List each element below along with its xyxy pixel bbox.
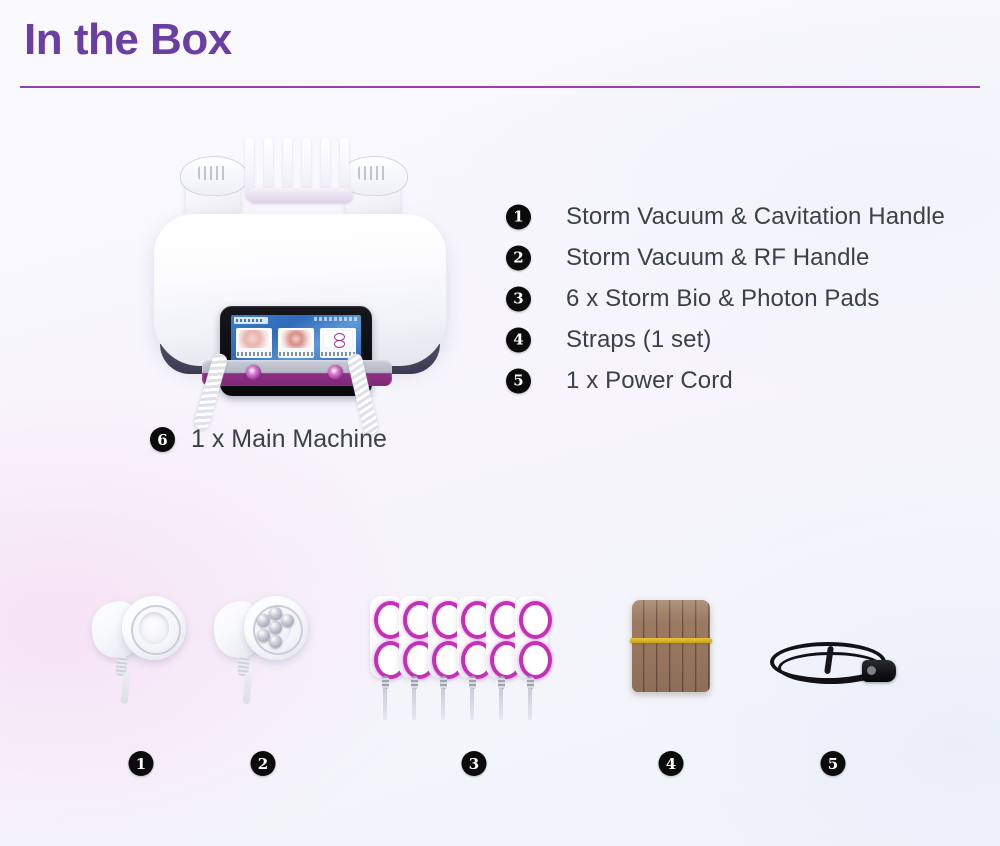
rf-electrode <box>281 614 294 627</box>
port-icon-right <box>328 365 343 380</box>
rf-electrode <box>269 635 282 648</box>
gallery-item-power-cord: 5 <box>768 0 898 846</box>
gallery-number-badge-4: 4 <box>659 751 684 776</box>
gallery-number-badge-2: 2 <box>251 751 276 776</box>
rf-electrode <box>269 621 282 634</box>
screen-title-text <box>314 317 358 321</box>
handle-bore <box>139 612 169 644</box>
pad-wire <box>383 688 387 720</box>
pad-connector <box>411 676 418 689</box>
gallery-number-badge-1: 1 <box>129 751 154 776</box>
pad-wire <box>528 688 532 720</box>
gallery-item-bio-photon-pads: 3 <box>370 0 578 846</box>
handle-wire <box>243 672 253 704</box>
pad-led-ring <box>519 601 552 639</box>
pad-connector <box>469 676 476 689</box>
rf-electrode <box>257 614 270 627</box>
pad-connector <box>382 676 389 689</box>
pad-wire <box>499 688 503 720</box>
gallery-number-badge-3: 3 <box>462 751 487 776</box>
gallery-item-straps: 4 <box>632 0 710 846</box>
pad-wire <box>441 688 445 720</box>
handle-head <box>244 596 308 660</box>
power-cord-art <box>768 630 898 710</box>
cord-plug <box>862 660 896 682</box>
pad-wire <box>470 688 474 720</box>
strap-bundle <box>632 600 710 692</box>
photon-pad <box>515 596 548 678</box>
screen-pad-ring-icon <box>334 340 345 348</box>
in-the-box-infographic: In the Box <box>0 0 1000 846</box>
handle-head <box>122 596 186 660</box>
pad-connector <box>498 676 505 689</box>
gallery-number-badge-5: 5 <box>821 751 846 776</box>
strap-tie-band <box>630 638 712 643</box>
rf-handle-art <box>208 590 318 705</box>
bio-photon-pads-art <box>370 596 578 726</box>
straps-art <box>632 600 710 695</box>
rf-electrode <box>257 629 270 642</box>
cavitation-handle-art <box>86 590 196 705</box>
pad-connector <box>527 676 534 689</box>
screen-mode-card-3 <box>320 328 356 358</box>
handle-wire <box>121 672 131 704</box>
pad-connector <box>440 676 447 689</box>
screen-thumb-pads <box>323 330 353 348</box>
pad-led-ring <box>519 641 552 679</box>
gallery-item-rf-handle: 2 <box>208 0 318 846</box>
pad-wire <box>412 688 416 720</box>
rf-electrode <box>269 607 282 620</box>
gallery-item-cavitation-handle: 1 <box>86 0 196 846</box>
